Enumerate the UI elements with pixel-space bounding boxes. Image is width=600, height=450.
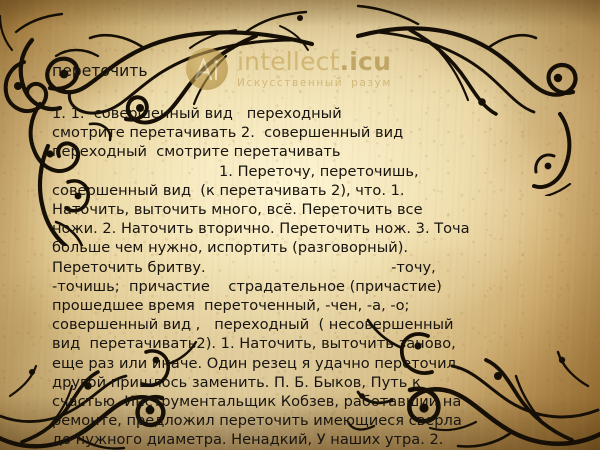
article-line: другой пришлось заменить. П. Б. Быков, П… [52, 373, 560, 392]
article-line: 1. 1. совершенный вид переходный [52, 104, 560, 123]
article-line: счастью. Инструментальщик Кобзев, работа… [52, 392, 560, 411]
article-line: больше чем нужно, испортить (разговорный… [52, 238, 560, 257]
article-line: вид перетачивать2). 1. Наточить, выточит… [52, 334, 560, 353]
article-line: совершенный вид , переходный ( несоверше… [52, 315, 560, 334]
article-line: Наточить, выточить много, всё. Переточит… [52, 200, 560, 219]
article-line: до нужного диаметра. Ненадкий, У наших у… [52, 430, 560, 449]
article-line: 1. Переточу, переточишь, [52, 162, 560, 181]
headword: переточить [52, 60, 560, 82]
article-line: ремонте, предложил переточить имеющиеся … [52, 411, 560, 430]
article-line: переходный смотрите перетачивать [52, 142, 560, 161]
article-line: прошедшее время переточенный, -чен, -а, … [52, 296, 560, 315]
article-line: еще раз или иначе. Один резец я удачно п… [52, 354, 560, 373]
article-body: 1. 1. совершенный вид переходный смотрит… [52, 104, 560, 450]
article-line: Переточить бритву. -точу, [52, 258, 560, 277]
article-line: ножи. 2. Наточить вторично. Переточить н… [52, 219, 560, 238]
article-line: совершенный вид (к перетачивать 2), что.… [52, 181, 560, 200]
dictionary-article: переточить 1. 1. совершенный вид переход… [52, 60, 560, 450]
article-line: -точишь; причастие страдательное (причас… [52, 277, 560, 296]
parchment-page: intellect.icu Искусственный разум перето… [0, 0, 600, 450]
article-line: смотрите перетачивать 2. совершенный вид [52, 123, 560, 142]
